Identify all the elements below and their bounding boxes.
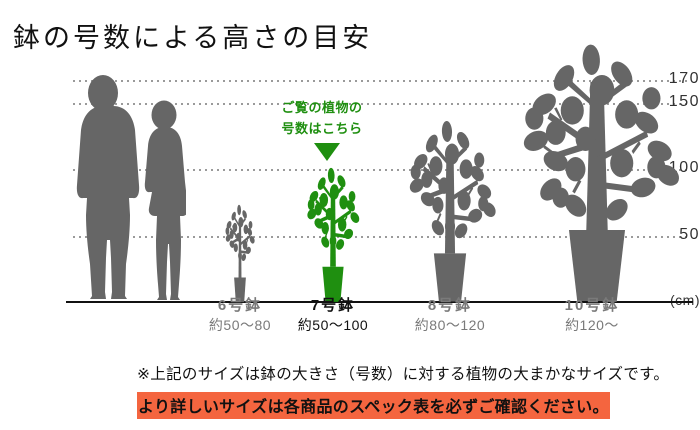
callout-text: ご覧の植物の 号数はこちら bbox=[264, 97, 380, 139]
pot-shape bbox=[434, 253, 466, 301]
tree-8go-svg bbox=[380, 0, 520, 303]
adult-woman-silhouette bbox=[145, 101, 186, 301]
tree-group-10go bbox=[512, 0, 682, 303]
plot-area: 170 150 100 50 (cm) bbox=[0, 0, 700, 340]
triangle-down-icon bbox=[314, 143, 340, 161]
tree-10go-svg bbox=[512, 0, 682, 303]
callout-line-2: 号数はこちら bbox=[264, 118, 380, 139]
pot-name-10go: 10号鉢 bbox=[522, 296, 662, 316]
pot-labels-row: 6号鉢 約50〜80 7号鉢 約50〜100 8号鉢 約80〜120 10号鉢 … bbox=[0, 296, 700, 346]
pot-label-10go: 10号鉢 約120〜 bbox=[522, 296, 662, 335]
adult-man-silhouette bbox=[77, 75, 139, 299]
pot-name-7go: 7号鉢 bbox=[268, 296, 398, 316]
pot-shape bbox=[569, 230, 625, 301]
pot-range-10go: 約120〜 bbox=[522, 316, 662, 335]
callout-line-1: ご覧の植物の bbox=[264, 97, 380, 118]
pot-name-8go: 8号鉢 bbox=[385, 296, 515, 316]
note-line-2-highlighted: より詳しいサイズは各商品のスペック表を必ずご確認ください。 bbox=[137, 392, 610, 419]
pot-range-8go: 約80〜120 bbox=[385, 316, 515, 335]
pot-label-8go: 8号鉢 約80〜120 bbox=[385, 296, 515, 335]
pot-size-guide-chart: 鉢の号数による高さの目安 170 150 100 50 (cm) bbox=[0, 0, 700, 430]
human-silhouettes-group bbox=[66, 0, 186, 303]
note-line-1: ※上記のサイズは鉢の大きさ（号数）に対する植物の大まかなサイズです。 bbox=[137, 362, 669, 384]
tree-group-8go bbox=[380, 0, 520, 303]
pot-range-7go: 約50〜100 bbox=[268, 316, 398, 335]
pot-label-7go: 7号鉢 約50〜100 bbox=[268, 296, 398, 335]
